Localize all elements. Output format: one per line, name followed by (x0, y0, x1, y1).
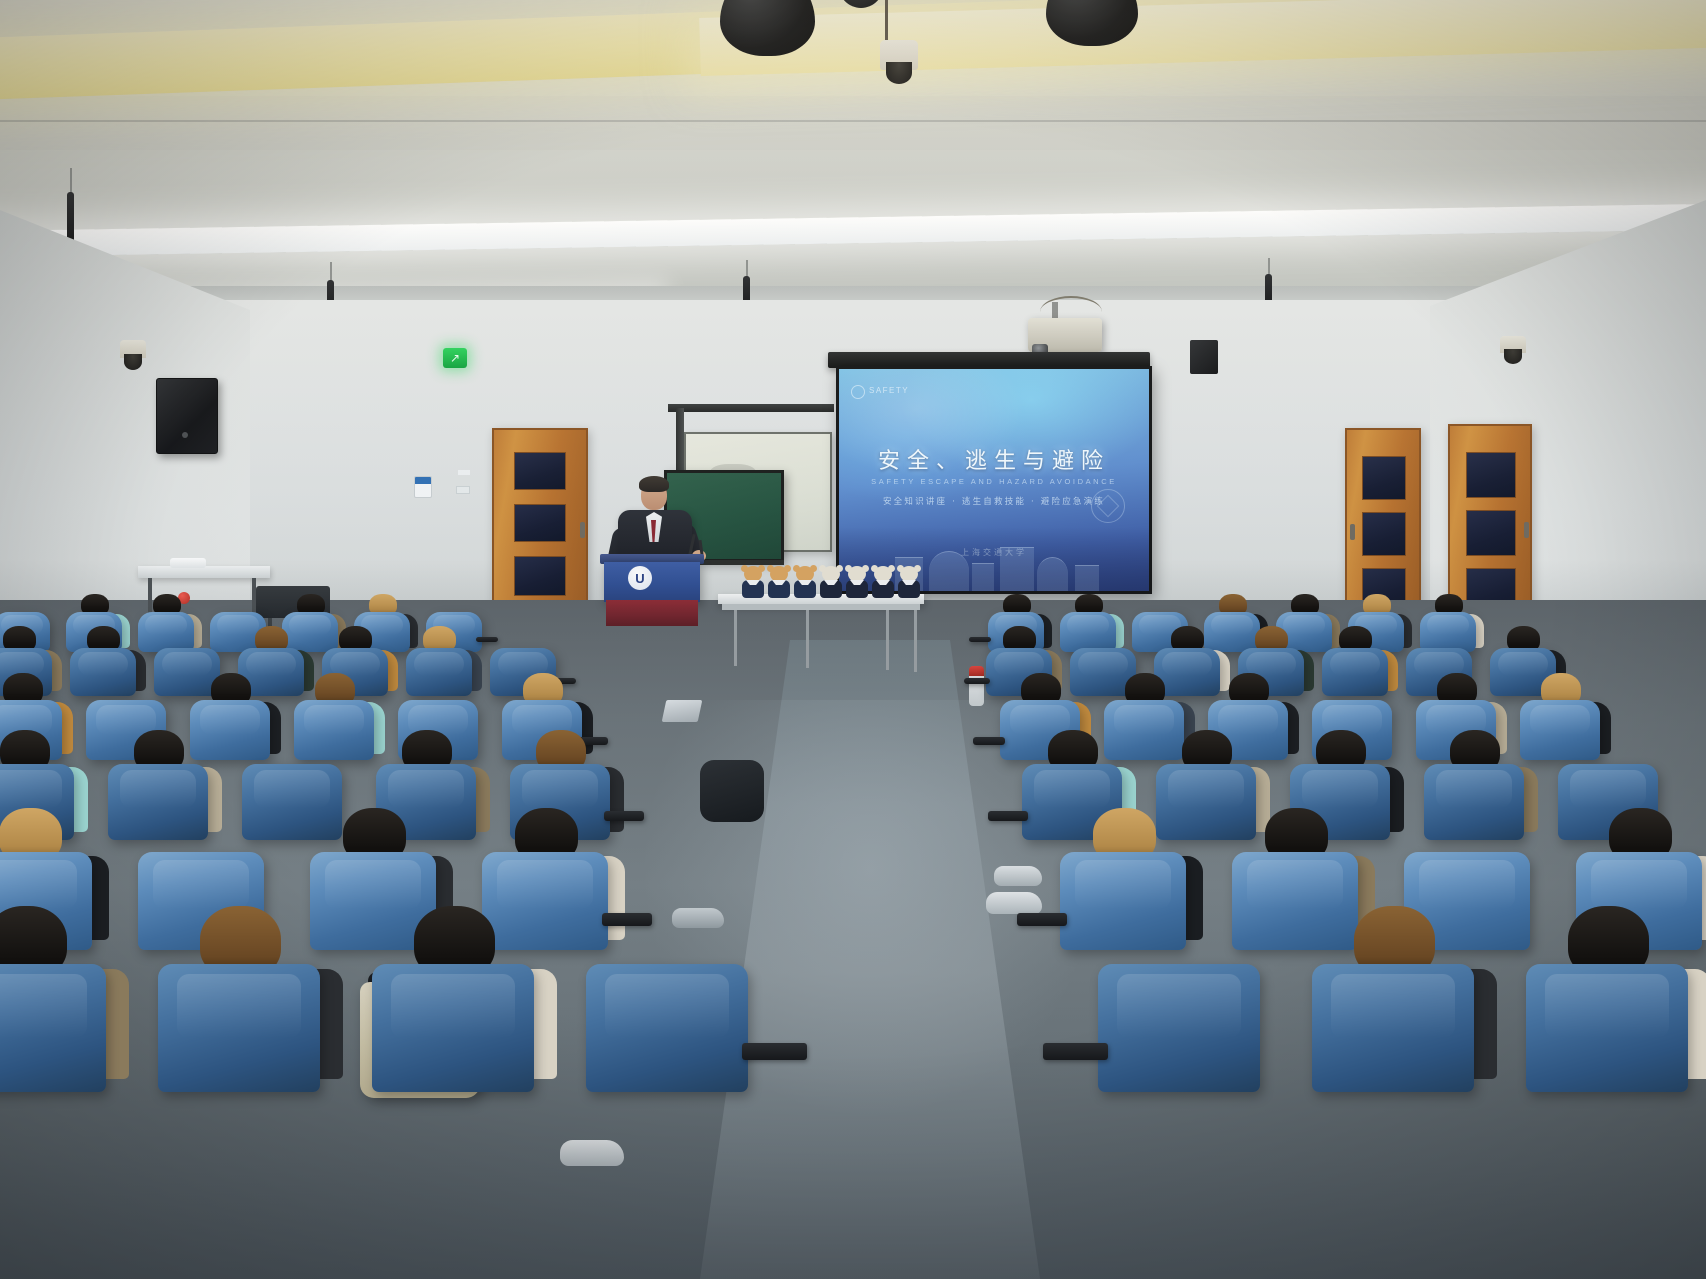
presentation-emblem-inner-icon (1097, 495, 1120, 518)
water-bottle-cap (969, 666, 984, 676)
auditorium-seat[interactable] (1104, 700, 1184, 760)
mascot-bear (844, 566, 870, 600)
presentation-logo-text: SAFETY (869, 386, 909, 395)
presentation-emblem-icon (1091, 489, 1125, 523)
sneaker (560, 1140, 624, 1166)
auditorium-seat[interactable] (1322, 648, 1388, 696)
table-leg (886, 610, 889, 670)
auditorium-seat[interactable] (0, 964, 106, 1092)
door-glass-panel (1362, 512, 1406, 556)
door-glass-panel (514, 556, 566, 596)
seat-armrest[interactable] (969, 637, 991, 642)
auditorium-seat[interactable] (1312, 964, 1474, 1092)
sneaker (672, 908, 724, 928)
auditorium-seat[interactable] (1520, 700, 1600, 760)
side-table-items (170, 558, 206, 568)
projection-screen-frame: SAFETY 安全、逃生与避险 SAFETY ESCAPE AND HAZARD… (836, 366, 1152, 594)
seat-armrest[interactable] (964, 678, 990, 684)
mic-wire (70, 168, 72, 194)
auditorium-seat[interactable] (190, 700, 270, 760)
door-glass-panel (1466, 510, 1516, 556)
presentation-logo-icon (851, 385, 865, 399)
exit-arrow-icon: ↗ (450, 352, 460, 364)
table-leg (914, 610, 917, 672)
wall-speaker-badge (182, 432, 188, 438)
dome-camera-lens-icon (1504, 349, 1522, 364)
lecture-hall-photo: ↗ SAFETY 安全、逃生与避险 SAFETY ESCAP (0, 0, 1706, 1279)
auditorium-seat[interactable] (138, 612, 194, 652)
podium (604, 562, 700, 602)
table-leg (806, 610, 809, 668)
mascot-bear (740, 566, 766, 600)
door-glass-panel (1466, 452, 1516, 498)
auditorium-seat[interactable] (1156, 764, 1256, 840)
table-leg (734, 610, 737, 666)
presentation-subtitle-en: SAFETY ESCAPE AND HAZARD AVOIDANCE (839, 477, 1149, 486)
auditorium-seat[interactable] (372, 964, 534, 1092)
door-handle[interactable] (580, 522, 585, 538)
podium-emblem-icon: U (628, 566, 652, 590)
sneaker (986, 892, 1042, 914)
auditorium-seat[interactable] (1098, 964, 1260, 1092)
door-handle[interactable] (1524, 522, 1529, 538)
auditorium-seat[interactable] (482, 852, 608, 950)
mascot-bear (818, 566, 844, 600)
seat-armrest[interactable] (1017, 913, 1067, 926)
auditorium-seat[interactable] (1424, 764, 1524, 840)
auditorium-seat[interactable] (1526, 964, 1688, 1092)
seat-armrest[interactable] (602, 913, 652, 926)
mascot-table-apron (722, 604, 920, 610)
auditorium-seat[interactable] (158, 964, 320, 1092)
auditorium-seat[interactable] (282, 612, 338, 652)
podium-base (606, 600, 698, 626)
mascot-bear (766, 566, 792, 600)
auditorium-seat[interactable] (1060, 612, 1116, 652)
laptop (662, 700, 703, 722)
ceiling-seam (0, 120, 1706, 122)
auditorium-seat[interactable] (1204, 612, 1260, 652)
wall-outlet-plate (456, 486, 470, 494)
podium-emblem-glyph: U (635, 572, 644, 585)
seat-armrest[interactable] (476, 637, 498, 642)
door-glass-panel (514, 452, 566, 490)
auditorium-seat[interactable] (294, 700, 374, 760)
wall-switch-plate (458, 470, 470, 475)
auditorium-seat[interactable] (406, 648, 472, 696)
seat-armrest[interactable] (604, 811, 644, 821)
projection-screen: SAFETY 安全、逃生与避险 SAFETY ESCAPE AND HAZARD… (839, 369, 1149, 591)
wall-speaker-icon (1190, 340, 1218, 374)
auditorium-seat[interactable] (242, 764, 342, 840)
mic-wire (330, 262, 332, 282)
wall-notice-header (415, 477, 432, 484)
seat-armrest[interactable] (742, 1043, 807, 1060)
seat-armrest[interactable] (1043, 1043, 1108, 1060)
auditorium-seat[interactable] (1232, 852, 1358, 950)
speaker-hair (639, 476, 669, 492)
backpack (700, 760, 764, 822)
wall-speaker-icon (156, 378, 218, 454)
auditorium-seat[interactable] (1420, 612, 1476, 652)
mascot-bear (870, 566, 896, 600)
dome-camera-lens-icon (886, 62, 912, 84)
auditorium-seat[interactable] (1060, 852, 1186, 950)
auditorium-seat[interactable] (108, 764, 208, 840)
door-glass-panel (514, 504, 566, 542)
sneaker (994, 866, 1042, 886)
mascot-bear (792, 566, 818, 600)
speaker-suspension-wire (885, 0, 888, 44)
emergency-exit-sign: ↗ (443, 348, 467, 368)
wall-notice-plate (414, 476, 432, 498)
seat-armrest[interactable] (988, 811, 1028, 821)
door-glass-panel (1362, 456, 1406, 500)
dome-camera-lens-icon (124, 354, 142, 370)
seat-armrest[interactable] (973, 737, 1005, 745)
mascot-bear (896, 566, 922, 600)
presentation-title: 安全、逃生与避险 (839, 443, 1149, 475)
board-rail-top (668, 404, 834, 412)
auditorium-seat[interactable] (70, 648, 136, 696)
door-handle[interactable] (1350, 524, 1355, 540)
auditorium-seat[interactable] (586, 964, 748, 1092)
